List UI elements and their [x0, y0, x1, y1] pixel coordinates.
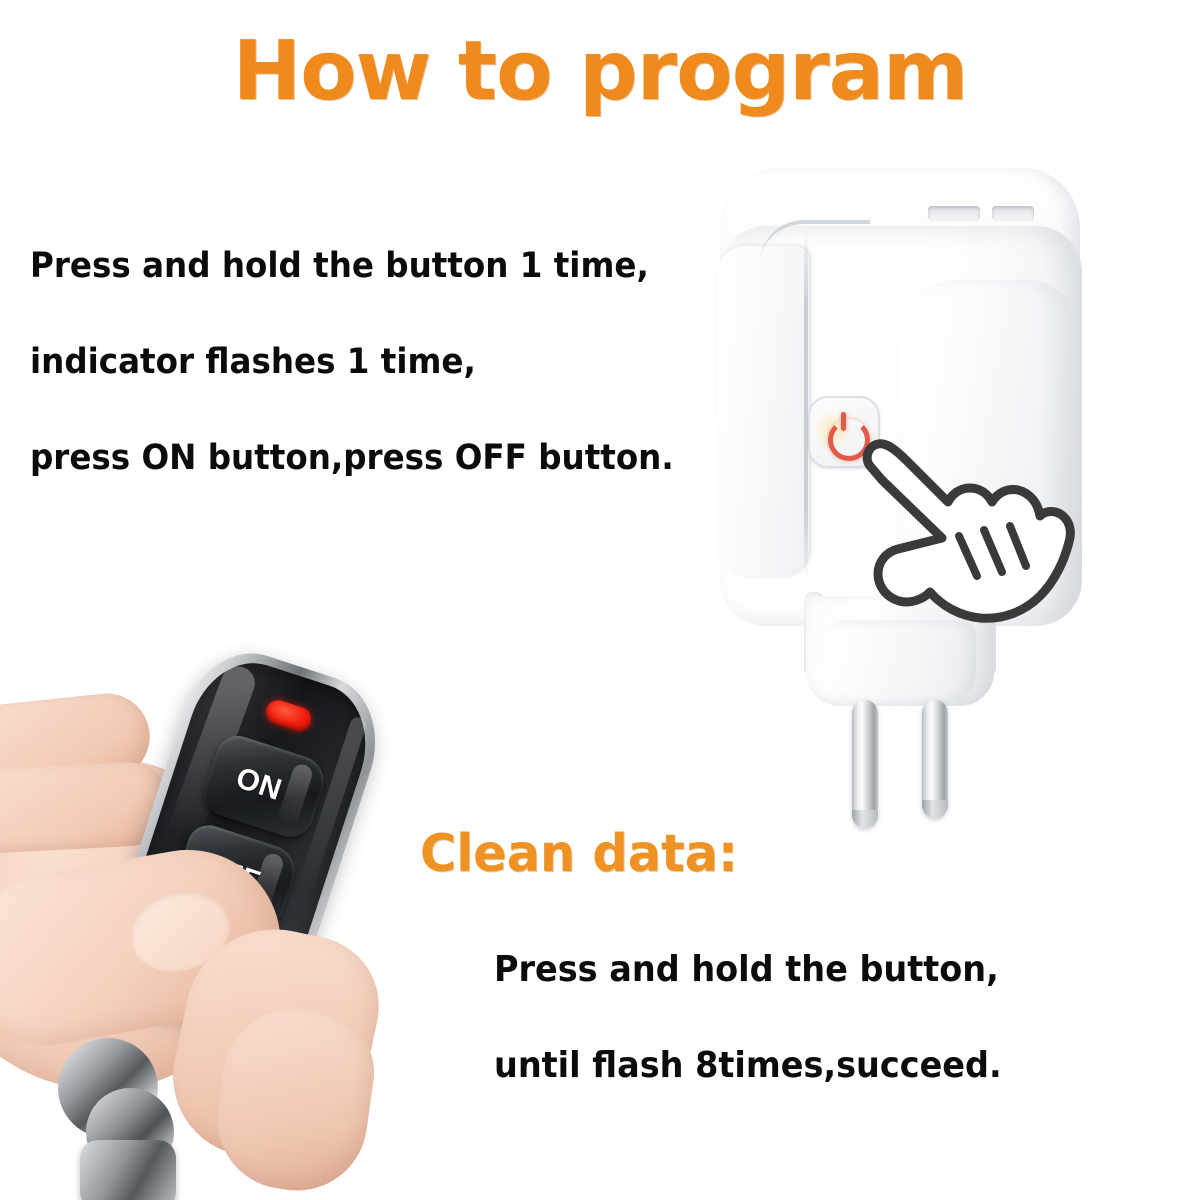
program-instructions: Press and hold the button 1 time, indica… — [30, 218, 750, 506]
instruction-line-1: Press and hold the button 1 time, — [30, 218, 700, 314]
plug-seam-curve — [760, 220, 870, 278]
socket-slot-right — [992, 206, 1034, 221]
plug-prong-left — [852, 700, 878, 828]
instruction-line-2: indicator flashes 1 time, — [30, 314, 700, 410]
plug-prong-right — [922, 700, 948, 818]
clean-data-line-2: until flash 8times,succeed. — [494, 1018, 1089, 1114]
plug-seam-line — [804, 230, 808, 580]
remote-on-label: ON — [232, 761, 286, 808]
clean-data-heading: Clean data: — [420, 824, 738, 884]
plug-prong-tip-left — [852, 810, 878, 828]
on-button-gloss — [276, 762, 314, 827]
socket-slot-left — [928, 206, 980, 221]
page-title: How to program — [0, 24, 1200, 119]
poster-root: How to program Press and hold the button… — [0, 0, 1200, 1200]
clean-data-instructions: Press and hold the button, until flash 8… — [494, 922, 1134, 1114]
plug-prong-tip-right — [922, 800, 948, 818]
clean-data-line-1: Press and hold the button, — [494, 922, 1089, 1018]
keyring-pendant — [80, 1140, 176, 1200]
hand-silhouette — [867, 444, 1070, 619]
plug-left-wing — [717, 246, 809, 576]
instruction-line-3: press ON button,press OFF button. — [30, 410, 700, 506]
pointing-hand-icon — [856, 406, 1086, 636]
power-icon-stem — [841, 412, 846, 431]
remote-scene: ON OFF — [0, 640, 440, 1200]
